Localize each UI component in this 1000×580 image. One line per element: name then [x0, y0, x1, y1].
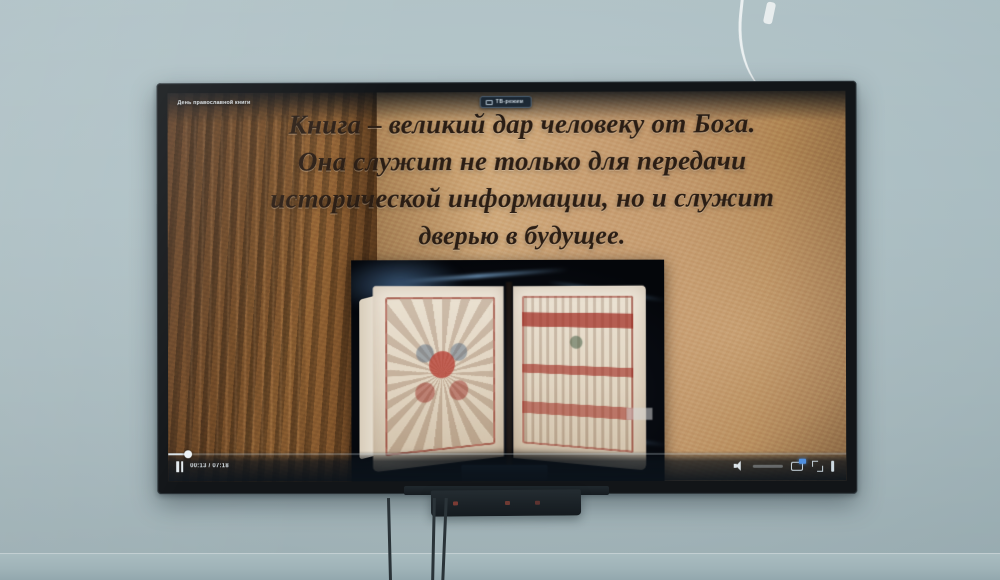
slide-line-3: исторической информации, но и служит	[227, 179, 817, 218]
room-scene: Книга – великий дар человеку от Бога. Он…	[0, 0, 1000, 580]
set-top-box	[431, 489, 581, 516]
player-left-controls: 00:13 / 07:18	[168, 461, 229, 472]
player-right-controls	[734, 460, 846, 471]
pause-icon[interactable]	[176, 461, 183, 472]
more-options-icon[interactable]	[831, 460, 834, 471]
player-top-bar: День православной книги ТВ-режим	[167, 91, 845, 123]
status-led-icon	[535, 501, 540, 505]
book-gutter	[506, 282, 512, 467]
slide-line-2: Она служит не только для передачи	[227, 142, 817, 181]
illuminated-manuscript-book	[373, 286, 645, 464]
player-control-bar[interactable]: 00:13 / 07:18	[168, 451, 846, 482]
timecode: 00:13 / 07:18	[190, 463, 229, 469]
television: Книга – великий дар человеку от Бога. Он…	[157, 81, 858, 494]
book-page-left	[373, 286, 504, 472]
book-page-right	[513, 286, 646, 471]
volume-slider[interactable]	[753, 464, 783, 467]
progress-knob[interactable]	[184, 450, 192, 458]
tv-screen[interactable]: Книга – великий дар человеку от Бога. Он…	[167, 91, 846, 481]
presentation-slide: Книга – великий дар человеку от Бога. Он…	[167, 91, 846, 481]
tv-mode-label: ТВ-режим	[496, 99, 524, 105]
slide-line-4: дверью в будущее.	[227, 216, 817, 254]
wall-skirting	[0, 553, 1000, 580]
display-case-label	[626, 408, 652, 420]
tv-icon	[486, 100, 493, 105]
cast-icon[interactable]	[791, 460, 804, 471]
power-cable	[387, 498, 392, 580]
status-led-icon	[453, 501, 458, 505]
illumination-left	[385, 297, 495, 456]
status-led-icon	[505, 501, 510, 505]
tv-mode-chip[interactable]: ТВ-режим	[480, 96, 532, 108]
volume-icon[interactable]	[734, 461, 745, 471]
inner-video-frame	[351, 260, 664, 482]
slide-headline: Книга – великий дар человеку от Бога. Он…	[227, 105, 817, 255]
fullscreen-icon[interactable]	[812, 460, 823, 471]
illumination-right	[522, 296, 634, 453]
video-title[interactable]: День православной книги	[177, 100, 250, 106]
progress-bar[interactable]	[168, 453, 846, 456]
